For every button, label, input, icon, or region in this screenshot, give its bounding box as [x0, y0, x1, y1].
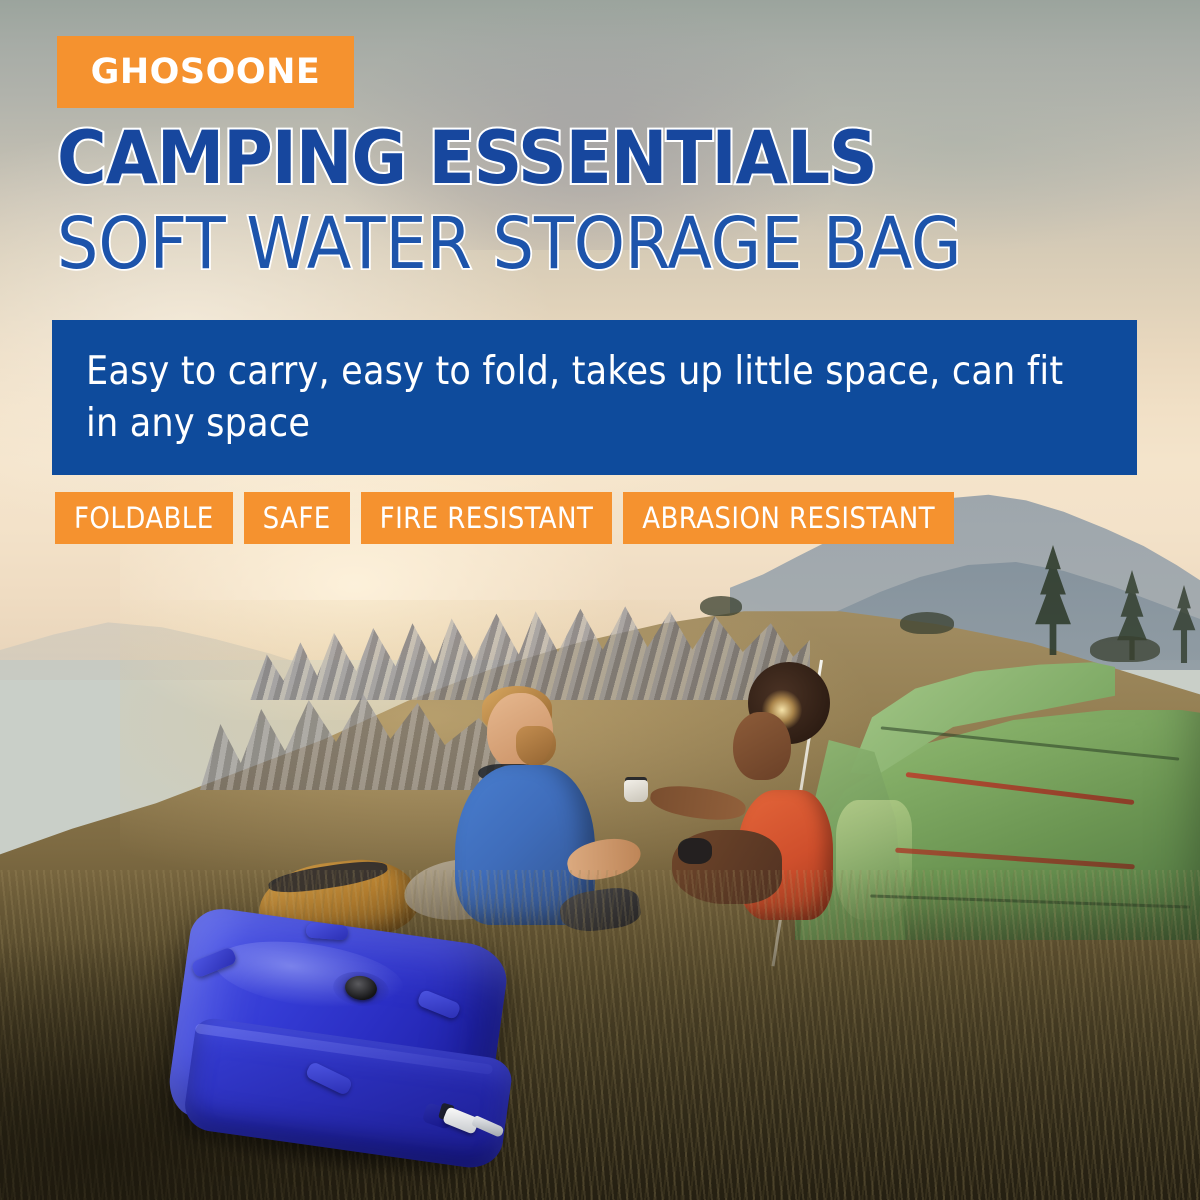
brand-name: GHOSOONE [91, 52, 321, 92]
headline-secondary: SOFT WATER STORAGE BAG [57, 208, 961, 279]
knee-band [678, 838, 712, 864]
product-poster: GHOSOONE CAMPING ESSENTIALS SOFT WATER S… [0, 0, 1200, 1200]
feature-tag: FIRE RESISTANT [361, 492, 613, 544]
feature-tag: ABRASION RESISTANT [623, 492, 954, 544]
feature-tag-list: FOLDABLE SAFE FIRE RESISTANT ABRASION RE… [55, 492, 954, 544]
feature-tag: FOLDABLE [55, 492, 233, 544]
woman-head [733, 712, 791, 780]
feature-tag-label: ABRASION RESISTANT [642, 501, 935, 535]
shrub [1090, 636, 1160, 662]
camp-cup [624, 780, 648, 802]
product-water-storage-bag [178, 918, 538, 1180]
feature-tag-label: SAFE [263, 501, 331, 535]
description-banner: Easy to carry, easy to fold, takes up li… [52, 320, 1137, 475]
feature-tag: SAFE [244, 492, 350, 544]
description-text: Easy to carry, easy to fold, takes up li… [52, 346, 1137, 449]
feature-tag-label: FIRE RESISTANT [380, 501, 594, 535]
brand-badge: GHOSOONE [57, 36, 354, 108]
bag-handle [306, 923, 349, 941]
shrub [700, 596, 742, 616]
shrub [900, 612, 954, 634]
feature-tag-label: FOLDABLE [74, 501, 214, 535]
headline-primary: CAMPING ESSENTIALS [57, 122, 877, 195]
